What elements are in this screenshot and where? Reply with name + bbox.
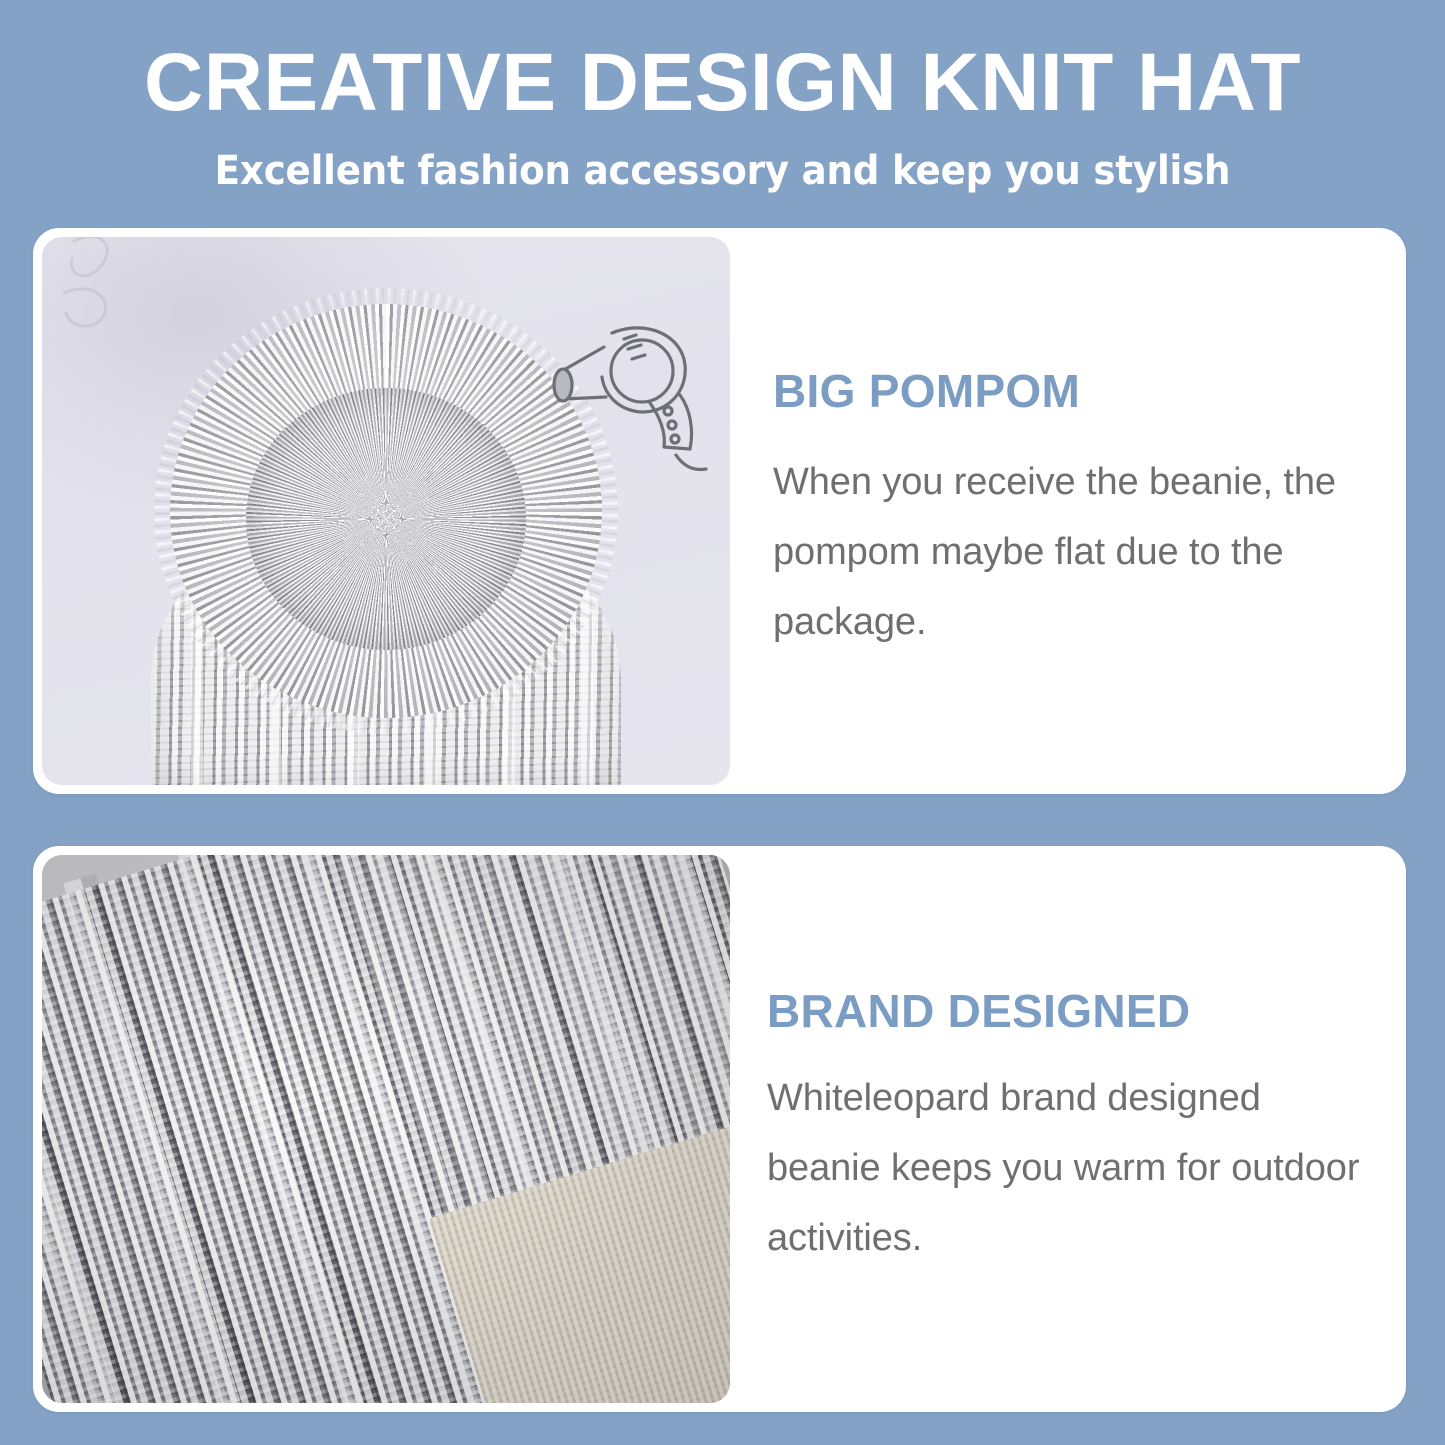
feature-card-brand-designed: BRAND DESIGNED Whiteleopard brand design…	[33, 846, 1406, 1412]
beanie-pompom	[170, 304, 602, 718]
page-header: CREATIVE DESIGN KNIT HAT Excellent fashi…	[0, 0, 1445, 222]
product-photo-knit-texture	[42, 855, 730, 1403]
feature-card-big-pompom: BIG POMPOM When you receive the beanie, …	[33, 228, 1406, 794]
feature-text-panel: BIG POMPOM When you receive the beanie, …	[739, 228, 1406, 794]
product-photo-wrapper	[33, 228, 739, 794]
hair-dryer-icon	[542, 299, 712, 479]
page-subtitle: Excellent fashion accessory and keep you…	[51, 146, 1395, 196]
photo-vignette	[42, 855, 730, 1403]
feature-title: BIG POMPOM	[773, 365, 1362, 417]
page-title: CREATIVE DESIGN KNIT HAT	[0, 36, 1445, 130]
feature-description: Whiteleopard brand designed beanie keeps…	[767, 1063, 1362, 1273]
feature-title: BRAND DESIGNED	[767, 985, 1362, 1037]
pompom-core	[246, 388, 526, 650]
product-photo-pompom	[42, 237, 730, 785]
script-scribble-decoration	[60, 237, 180, 371]
feature-description: When you receive the beanie, the pompom …	[773, 447, 1362, 657]
product-photo-wrapper	[33, 846, 739, 1412]
feature-text-panel: BRAND DESIGNED Whiteleopard brand design…	[739, 846, 1406, 1412]
